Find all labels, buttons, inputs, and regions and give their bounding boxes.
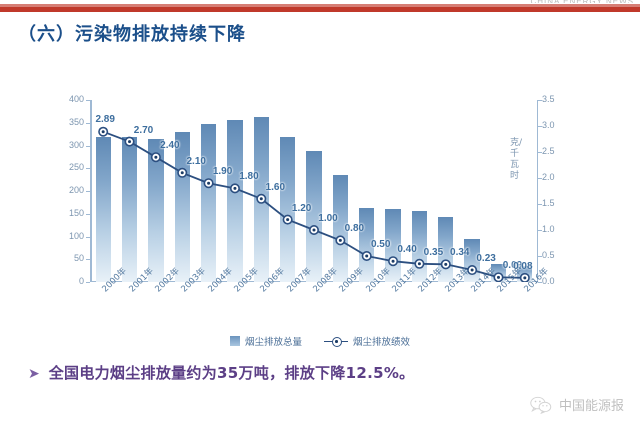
y-tick-label-left: 250 (50, 163, 84, 172)
data-label: 1.20 (292, 203, 311, 214)
top-red-bar (0, 4, 640, 12)
chart-container: 050100150200250300350400 0.00.51.01.52.0… (18, 88, 622, 358)
line-marker[interactable]: 2013年 0.34 克/千瓦时 (442, 260, 450, 268)
legend-line-label: 烟尘排放绩效 (353, 334, 410, 348)
chart-legend: 烟尘排放总量 烟尘排放绩效 (18, 334, 622, 348)
page-title: （六）污染物排放持续下降 (18, 20, 246, 46)
y-tick-label-left: 300 (50, 141, 84, 150)
data-label: 0.40 (397, 244, 416, 255)
line-marker[interactable]: 2008年 1.00 克/千瓦时 (310, 226, 318, 234)
y-tick-label-left: 200 (50, 186, 84, 195)
y-tick-label-right: 2.0 (542, 173, 576, 182)
y-tick-label-left: 400 (50, 95, 84, 104)
data-label: 0.35 (424, 247, 443, 258)
line-marker[interactable]: 2003年 2.10 克/千瓦时 (178, 169, 186, 177)
legend-line-swatch (324, 336, 348, 346)
line-marker[interactable]: 2005年 1.80 克/千瓦时 (231, 184, 239, 192)
data-label: 1.00 (318, 213, 337, 224)
top-watermark: CHINA ENERGY NEWS (530, 0, 634, 3)
y-tick-label-left: 350 (50, 118, 84, 127)
data-label: 0.80 (345, 223, 364, 234)
top-bar-highlight (0, 4, 640, 7)
legend-bar-swatch (230, 336, 240, 346)
line-marker[interactable]: 2001年 2.70 克/千瓦时 (125, 137, 133, 145)
y-tick-label-right: 0.0 (542, 277, 576, 286)
y-tick-label-left: 0 (50, 277, 84, 286)
data-label: 0.23 (476, 253, 495, 264)
data-label: 1.60 (266, 182, 285, 193)
data-label: 2.89 (95, 114, 114, 125)
y-tick-label-right: 0.5 (542, 251, 576, 260)
data-label: 0.34 (450, 247, 469, 258)
line-marker[interactable]: 2009年 0.80 克/千瓦时 (336, 236, 344, 244)
line-marker[interactable]: 2012年 0.35 克/千瓦时 (415, 260, 423, 268)
y-tick-label-left: 100 (50, 232, 84, 241)
y-tick-label-right: 1.0 (542, 225, 576, 234)
footer-watermark: 中国能源报 (530, 395, 624, 414)
legend-item-line[interactable]: 烟尘排放绩效 (324, 334, 410, 348)
data-label: 2.70 (134, 125, 153, 136)
data-label: 1.90 (213, 166, 232, 177)
wechat-icon (530, 396, 552, 414)
y-tick-label-right: 1.5 (542, 199, 576, 208)
footer-brand: 中国能源报 (559, 395, 624, 414)
y-tick-label-right: 3.0 (542, 121, 576, 130)
line-marker[interactable]: 2010年 0.50 克/千瓦时 (363, 252, 371, 260)
line-marker[interactable]: 2002年 2.40 克/千瓦时 (152, 153, 160, 161)
legend-bar-label: 烟尘排放总量 (245, 334, 302, 348)
data-label: 2.10 (187, 156, 206, 167)
bullet-text: 全国电力烟尘排放量约为35万吨，排放下降12.5%。 (49, 362, 415, 383)
line-marker[interactable]: 2006年 1.60 克/千瓦时 (257, 195, 265, 203)
line-series: 2000年 2.89 克/千瓦时2001年 2.70 克/千瓦时2002年 2.… (90, 100, 538, 282)
line-marker[interactable]: 2000年 2.89 克/千瓦时 (99, 128, 107, 136)
bullet-row: ➤ 全国电力烟尘排放量约为35万吨，排放下降12.5%。 (28, 362, 588, 383)
line-marker[interactable]: 2007年 1.20 克/千瓦时 (283, 215, 291, 223)
legend-item-bar[interactable]: 烟尘排放总量 (230, 334, 302, 348)
line-marker[interactable]: 2004年 1.90 克/千瓦时 (204, 179, 212, 187)
x-axis-labels: 2000年2001年2002年2003年2004年2005年2006年2007年… (90, 286, 538, 330)
y-tick-label-right: 2.5 (542, 147, 576, 156)
y-tick-left (86, 282, 90, 283)
y-axis-right-title: 克/千瓦时 (510, 138, 521, 182)
data-label: 1.80 (239, 171, 258, 182)
y-tick-label-left: 150 (50, 209, 84, 218)
data-label: 2.40 (160, 140, 179, 151)
y-tick-label-left: 50 (50, 254, 84, 263)
data-label: 0.50 (371, 239, 390, 250)
y-tick-label-right: 3.5 (542, 95, 576, 104)
bullet-arrow-icon: ➤ (28, 366, 40, 380)
chart-plot-area: 050100150200250300350400 0.00.51.01.52.0… (90, 100, 538, 282)
line-marker[interactable]: 2011年 0.40 克/千瓦时 (389, 257, 397, 265)
